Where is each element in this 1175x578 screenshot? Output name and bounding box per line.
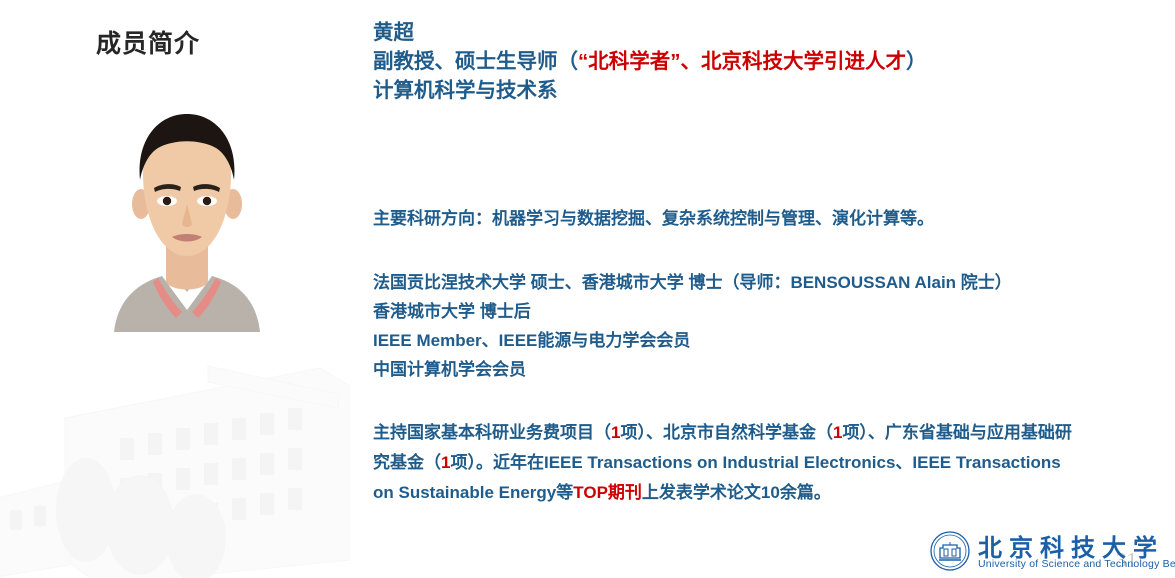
education-line: 法国贡比涅技术大学 硕士、香港城市大学 博士（导师：BENSOUSSAN Ala… <box>373 268 1173 297</box>
funding-and-publications-block: 主持国家基本科研业务费项目（1项）、北京市自然科学基金（1项）、广东省基础与应用… <box>373 418 1085 508</box>
member-department: 计算机科学与技术系 <box>373 76 1163 105</box>
member-profile-content: 黄超 副教授、硕士生导师（“北科学者”、北京科技大学引进人才） 计算机科学与技术… <box>373 18 1163 105</box>
funding-segment: 主持国家基本科研业务费项目（ <box>373 423 611 442</box>
funding-segment: 上发表学术论文10余篇。 <box>642 483 831 502</box>
university-logo: 北京科技大学 University of Science and Technol… <box>930 530 1166 576</box>
member-title-suffix: ） <box>906 50 927 73</box>
member-title-prefix: 副教授、硕士生导师（ <box>373 50 578 73</box>
university-name-english: University of Science and Technology Bei… <box>978 558 1175 570</box>
education-line: 中国计算机学会会员 <box>373 355 1173 384</box>
member-title-line: 副教授、硕士生导师（“北科学者”、北京科技大学引进人才） <box>373 47 1163 76</box>
university-emblem-icon <box>930 531 970 571</box>
publication-highlight: TOP期刊 <box>573 483 642 502</box>
member-title-highlight: “北科学者”、北京科技大学引进人才 <box>578 50 906 73</box>
page-title: 成员简介 <box>96 24 200 60</box>
funding-paragraph: 主持国家基本科研业务费项目（1项）、北京市自然科学基金（1项）、广东省基础与应用… <box>373 418 1085 508</box>
member-name: 黄超 <box>373 18 1163 47</box>
member-portrait-photo <box>96 96 278 332</box>
education-and-membership-block: 法国贡比涅技术大学 硕士、香港城市大学 博士（导师：BENSOUSSAN Ala… <box>373 268 1173 384</box>
research-directions: 主要科研方向：机器学习与数据挖掘、复杂系统控制与管理、演化计算等。 <box>373 204 1173 233</box>
education-line: IEEE Member、IEEE能源与电力学会会员 <box>373 326 1173 355</box>
slide-canvas: 成员简介 <box>0 0 1175 578</box>
campus-building-watermark <box>0 360 350 578</box>
funding-segment: 项）、北京市自然科学基金（ <box>620 423 833 442</box>
education-line: 香港城市大学 博士后 <box>373 297 1173 326</box>
